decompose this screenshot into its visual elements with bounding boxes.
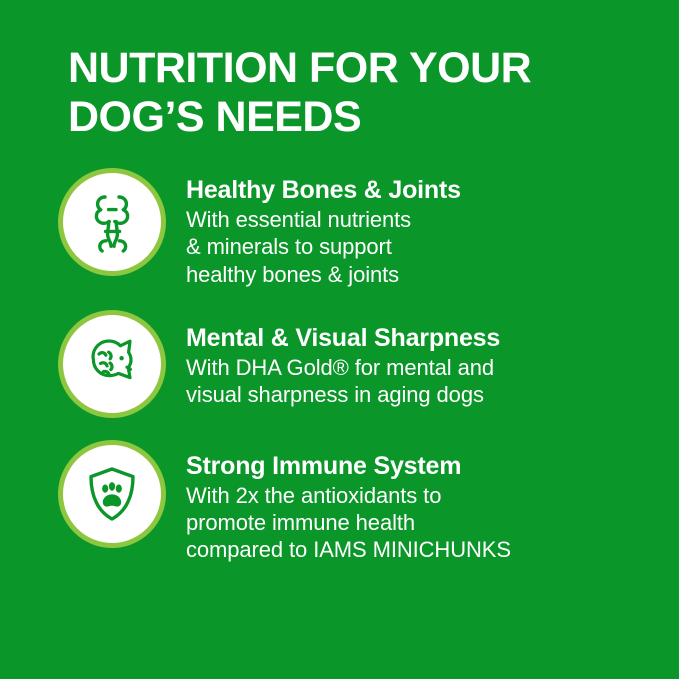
benefit-desc-line: With DHA Gold® for mental and bbox=[186, 354, 655, 381]
shield-paw-icon bbox=[58, 440, 166, 548]
benefit-text: Mental & Visual Sharpness With DHA Gold®… bbox=[186, 310, 679, 409]
benefit-desc-line: compared to IAMS MINICHUNKS bbox=[186, 536, 655, 563]
benefit-description: With 2x the antioxidants to promote immu… bbox=[186, 482, 655, 564]
benefit-text: Healthy Bones & Joints With essential nu… bbox=[186, 168, 679, 288]
benefit-desc-line: promote immune health bbox=[186, 509, 655, 536]
benefit-icon-wrap bbox=[58, 168, 166, 276]
benefit-desc-line: With essential nutrients bbox=[186, 206, 655, 233]
benefit-title: Strong Immune System bbox=[186, 452, 655, 480]
list-item: Mental & Visual Sharpness With DHA Gold®… bbox=[0, 310, 679, 418]
benefit-title: Mental & Visual Sharpness bbox=[186, 324, 655, 352]
benefit-desc-line: With 2x the antioxidants to bbox=[186, 482, 655, 509]
benefit-desc-line: healthy bones & joints bbox=[186, 261, 655, 288]
list-item: Healthy Bones & Joints With essential nu… bbox=[0, 168, 679, 288]
benefits-list: Healthy Bones & Joints With essential nu… bbox=[0, 168, 679, 564]
dog-head-brain-icon bbox=[58, 310, 166, 418]
benefit-text: Strong Immune System With 2x the antioxi… bbox=[186, 440, 679, 564]
page-title: NUTRITION FOR YOUR DOG’S NEEDS bbox=[68, 44, 628, 142]
bone-joint-icon bbox=[58, 168, 166, 276]
benefit-desc-line: & minerals to support bbox=[186, 233, 655, 260]
benefit-title: Healthy Bones & Joints bbox=[186, 176, 655, 204]
benefit-description: With DHA Gold® for mental and visual sha… bbox=[186, 354, 655, 409]
benefit-icon-wrap bbox=[58, 310, 166, 418]
benefit-description: With essential nutrients & minerals to s… bbox=[186, 206, 655, 288]
benefit-icon-wrap bbox=[58, 440, 166, 548]
list-item: Strong Immune System With 2x the antioxi… bbox=[0, 440, 679, 564]
promo-panel: NUTRITION FOR YOUR DOG’S NEEDS bbox=[0, 0, 679, 679]
benefit-desc-line: visual sharpness in aging dogs bbox=[186, 381, 655, 408]
